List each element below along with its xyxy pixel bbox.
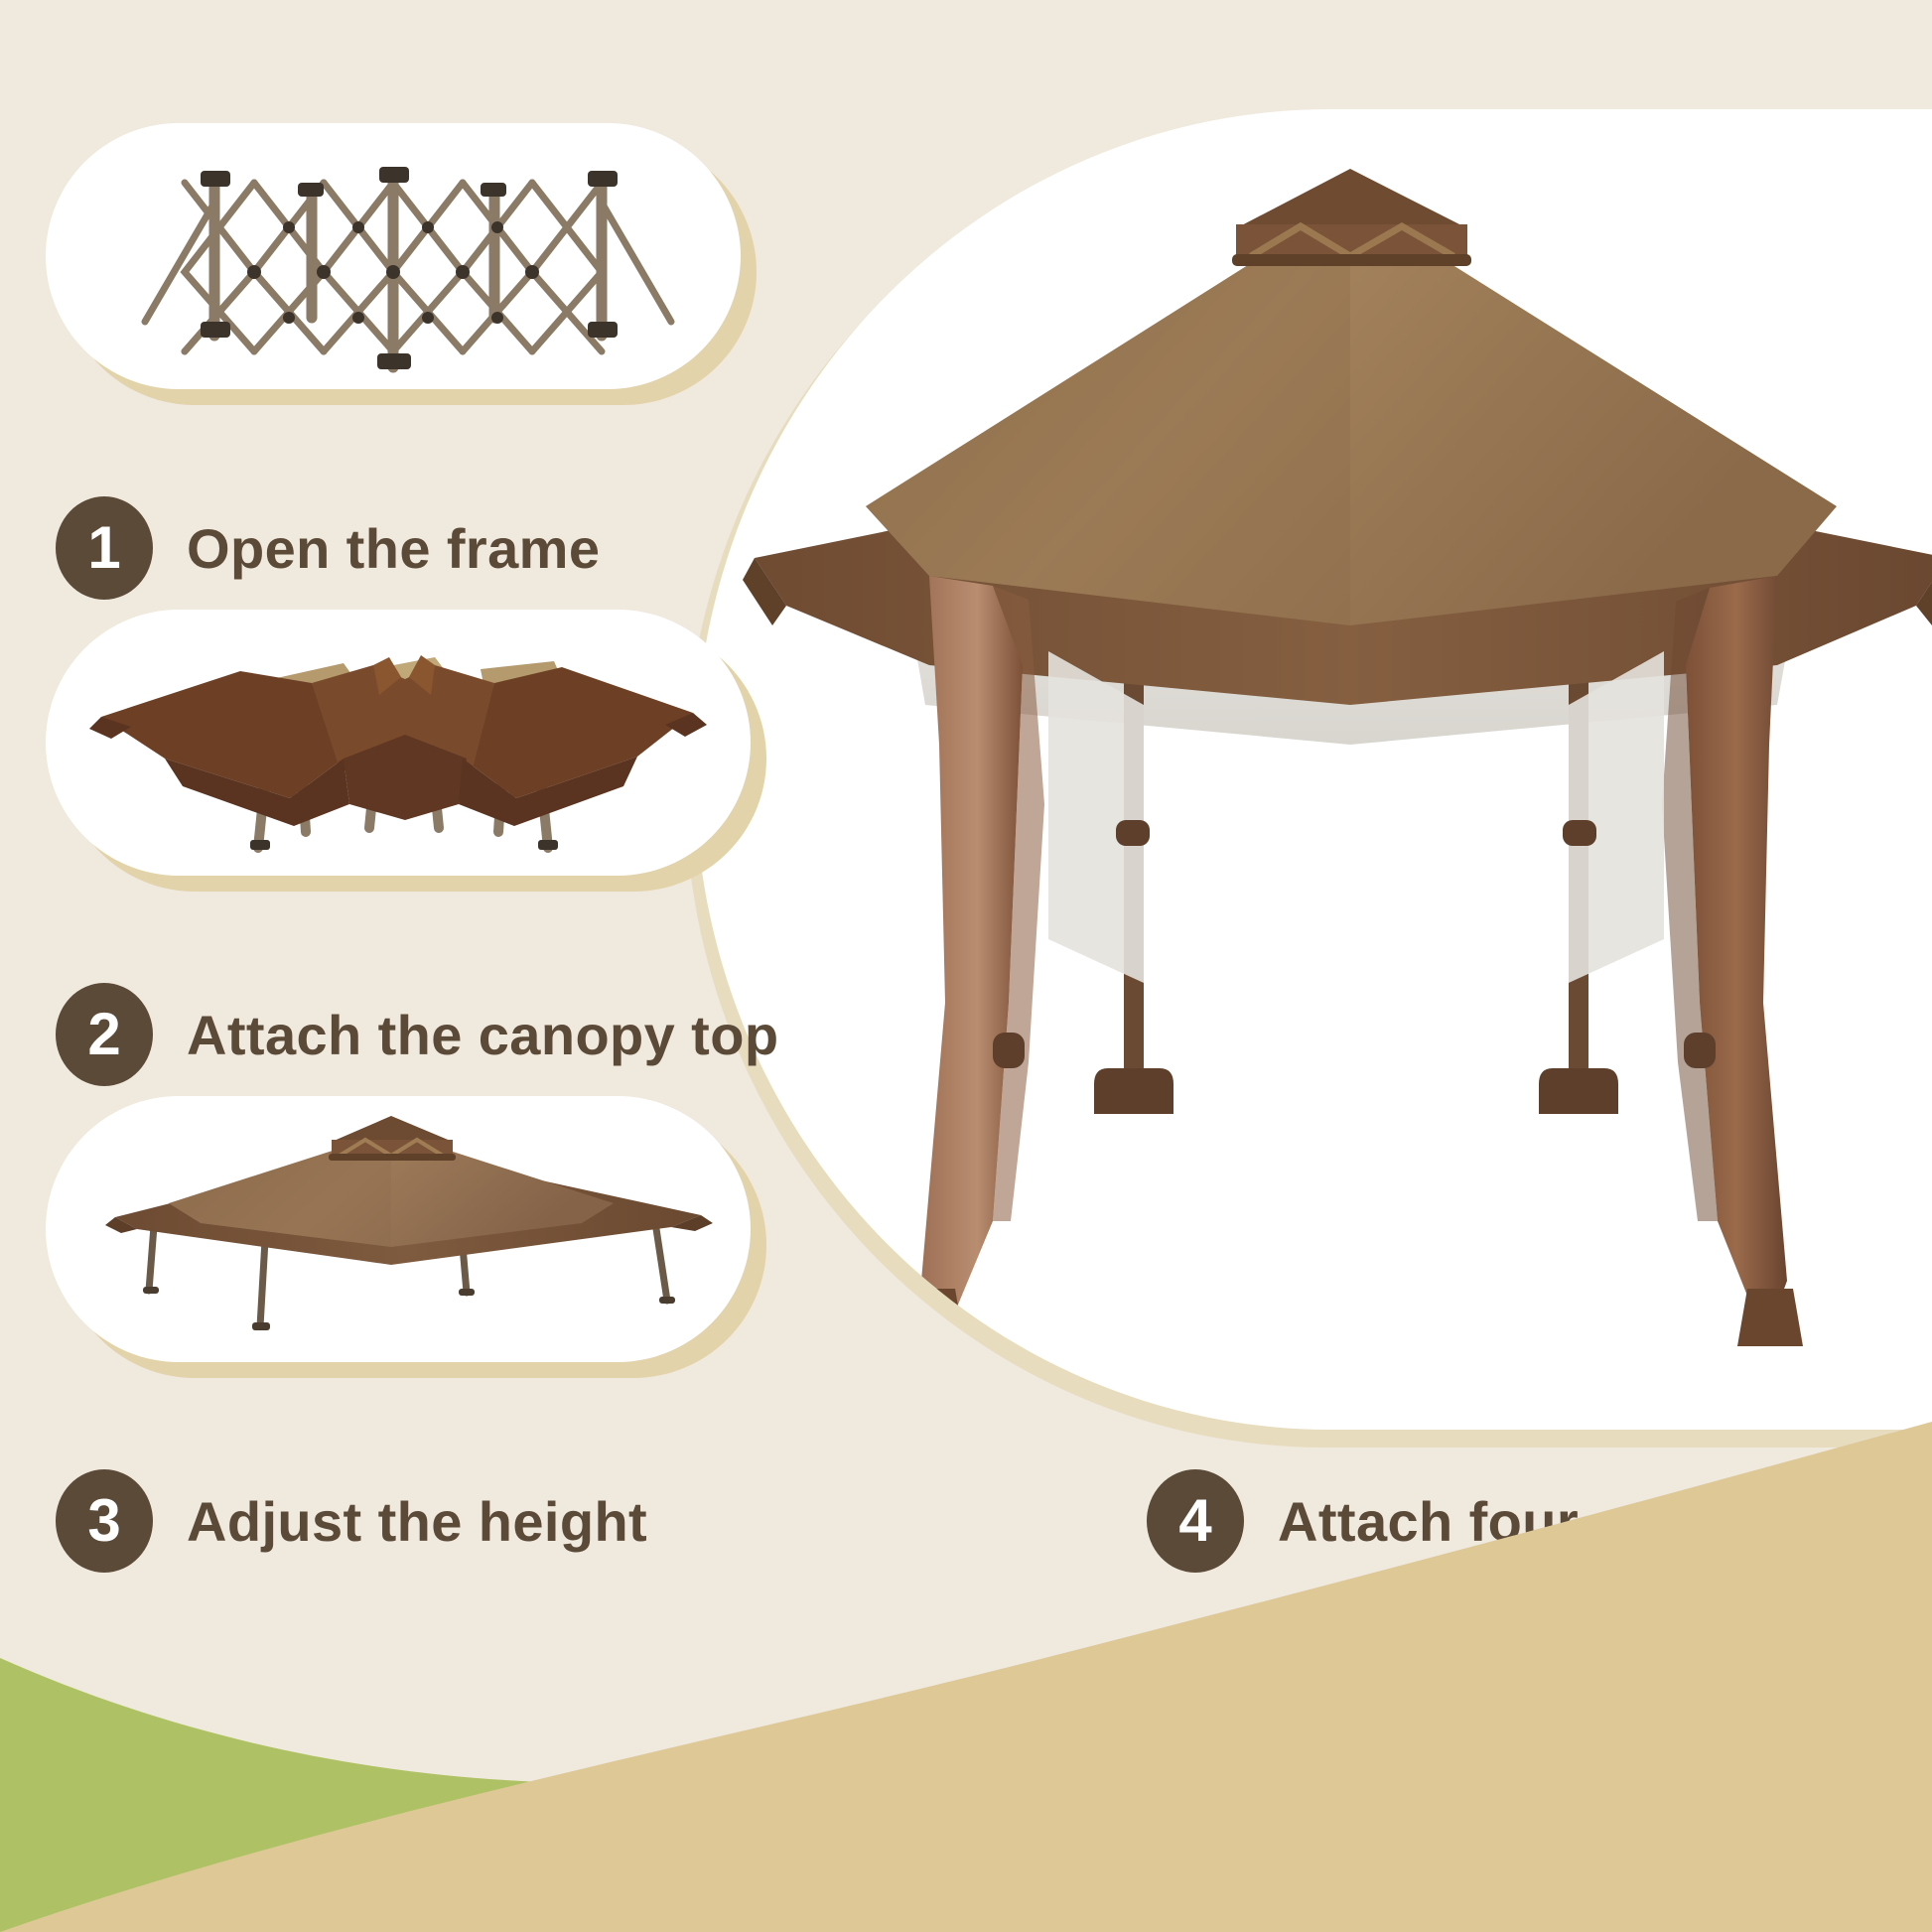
step-badge-2: 2 bbox=[56, 983, 153, 1086]
step-row-1: 1 Open the frame bbox=[56, 496, 600, 600]
step-row-4: 4 Attach four comer curtains bbox=[1147, 1469, 1932, 1573]
step-row-3: 3 Adjust the height bbox=[56, 1469, 647, 1573]
step-badge-3: 3 bbox=[56, 1469, 153, 1573]
step-card-2 bbox=[46, 610, 751, 876]
step-card-3 bbox=[46, 1096, 751, 1362]
step-label-4: Attach four comer curtains bbox=[1278, 1489, 1932, 1554]
step-card-1 bbox=[46, 123, 741, 389]
step-row-2: 2 Attach the canopy top bbox=[56, 983, 778, 1086]
step-badge-4: 4 bbox=[1147, 1469, 1244, 1573]
gazebo-with-curtains-illustration bbox=[695, 109, 1932, 1430]
assembled-gazebo-illustration bbox=[46, 1096, 751, 1362]
hero-panel bbox=[695, 109, 1932, 1430]
step-label-3: Adjust the height bbox=[187, 1489, 647, 1554]
folding-frame-illustration bbox=[46, 123, 741, 389]
step-label-2: Attach the canopy top bbox=[187, 1003, 778, 1067]
canopy-attach-illustration bbox=[46, 610, 751, 876]
step-label-1: Open the frame bbox=[187, 516, 600, 581]
infographic-page: 1 Open the frame bbox=[0, 0, 1932, 1932]
step-badge-1: 1 bbox=[56, 496, 153, 600]
